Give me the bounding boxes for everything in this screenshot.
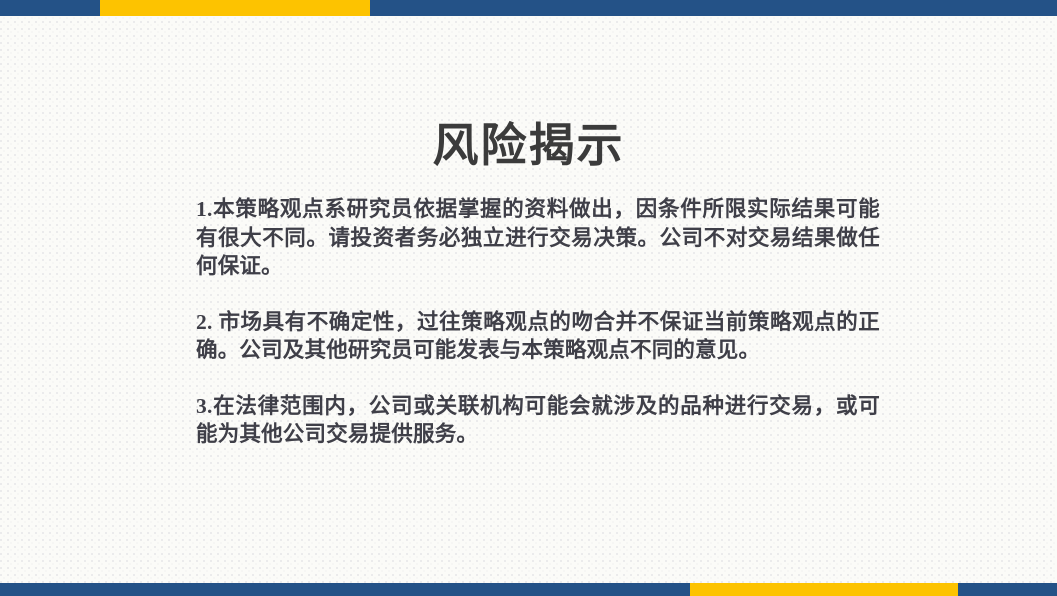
bottom-bar-yellow-segment: [690, 583, 958, 596]
slide-content: 风险揭示 1.本策略观点系研究员依据掌握的资料做出，因条件所限实际结果可能有很大…: [0, 16, 1057, 583]
risk-paragraph-2: 2. 市场具有不确定性，过往策略观点的吻合并不保证当前策略观点的正确。公司及其他…: [196, 308, 880, 365]
top-bar-blue-left-segment: [0, 0, 100, 16]
risk-paragraph-3: 3.在法律范围内，公司或关联机构可能会就涉及的品种进行交易，或可能为其他公司交易…: [196, 392, 880, 449]
top-bar-yellow-segment: [100, 0, 370, 16]
risk-disclosure-body: 1.本策略观点系研究员依据掌握的资料做出，因条件所限实际结果可能有很大不同。请投…: [196, 195, 880, 449]
risk-paragraph-1: 1.本策略观点系研究员依据掌握的资料做出，因条件所限实际结果可能有很大不同。请投…: [196, 195, 880, 281]
top-bar-blue-right-segment: [370, 0, 1057, 16]
top-accent-bar: [0, 0, 1057, 16]
presentation-slide: 风险揭示 1.本策略观点系研究员依据掌握的资料做出，因条件所限实际结果可能有很大…: [0, 0, 1057, 596]
bottom-bar-blue-right-segment: [958, 583, 1057, 596]
bottom-bar-blue-left-segment: [0, 583, 690, 596]
bottom-accent-bar: [0, 583, 1057, 596]
slide-title: 风险揭示: [0, 120, 1057, 173]
